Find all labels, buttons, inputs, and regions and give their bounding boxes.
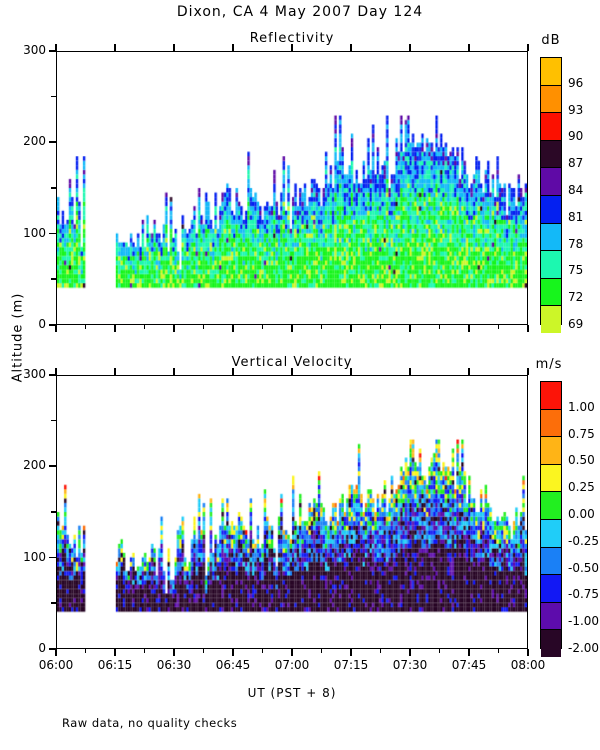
x-major-tick [173, 325, 175, 332]
x-major-tick [468, 325, 470, 332]
x-minor-tick [262, 649, 264, 653]
x-major-tick-top [232, 368, 234, 375]
x-minor-tick [144, 649, 146, 653]
x-major-tick [350, 325, 352, 332]
x-minor-tick [203, 649, 205, 653]
colorbar-band [541, 603, 561, 631]
y-tick-label: 200 [4, 134, 46, 148]
y-minor-tick [51, 602, 56, 604]
y-tick-label: 100 [4, 550, 46, 564]
colorbar-band [541, 168, 561, 196]
x-major-tick-top [114, 44, 116, 51]
velocity-colorbar-tick-label: 0.50 [568, 453, 600, 467]
x-major-tick [114, 649, 116, 656]
x-major-tick [173, 649, 175, 656]
x-major-tick-top [55, 368, 57, 375]
y-tick-label: 200 [4, 458, 46, 472]
x-tick-label: 06:45 [207, 658, 259, 672]
reflectivity-colorbar-tick-label: 69 [568, 317, 600, 331]
x-tick-label: 07:15 [325, 658, 377, 672]
y-axis-label: Altitude (m) [11, 288, 26, 388]
reflectivity-colorbar-tick-label: 75 [568, 263, 600, 277]
y-minor-tick [51, 278, 56, 280]
velocity-colorbar-tick-label: -0.25 [568, 534, 600, 548]
colorbar-band [541, 382, 561, 410]
x-major-tick [527, 649, 529, 656]
x-major-tick-top [173, 44, 175, 51]
reflectivity-colorbar-tick-label: 87 [568, 156, 600, 170]
x-tick-label: 06:00 [30, 658, 82, 672]
colorbar-band [541, 492, 561, 520]
colorbar-band [541, 86, 561, 114]
colorbar-band [541, 306, 561, 333]
colorbar-band [541, 251, 561, 279]
x-minor-tick [85, 649, 87, 653]
x-major-tick [409, 649, 411, 656]
y-tick-label: 100 [4, 226, 46, 240]
x-minor-tick [380, 649, 382, 653]
y-tick-label: 300 [4, 43, 46, 57]
y-minor-tick [51, 96, 56, 98]
x-minor-tick [85, 325, 87, 329]
reflectivity-colorbar-tick-label: 78 [568, 237, 600, 251]
velocity-colorbar-tick-label: 0.25 [568, 480, 600, 494]
x-major-tick-top [173, 368, 175, 375]
x-minor-tick [321, 325, 323, 329]
colorbar-band [541, 630, 561, 657]
x-major-tick [291, 649, 293, 656]
x-major-tick-top [291, 368, 293, 375]
footer-note: Raw data, no quality checks [62, 716, 237, 730]
colorbar-band [541, 58, 561, 86]
x-major-tick [527, 325, 529, 332]
x-minor-tick [439, 325, 441, 329]
y-minor-tick [51, 187, 56, 189]
velocity-heatmap-canvas [57, 376, 527, 648]
x-major-tick-top [468, 44, 470, 51]
x-major-tick [55, 325, 57, 332]
x-major-tick [291, 325, 293, 332]
colorbar-band [541, 141, 561, 169]
x-major-tick [232, 649, 234, 656]
reflectivity-colorbar-tick-label: 84 [568, 183, 600, 197]
velocity-colorbar-tick-label: -0.50 [568, 561, 600, 575]
colorbar-band [541, 224, 561, 252]
velocity-colorbar-tick-label: 0.00 [568, 507, 600, 521]
x-minor-tick [203, 325, 205, 329]
velocity-colorbar-unit: m/s [529, 357, 569, 372]
x-tick-label: 08:00 [502, 658, 554, 672]
colorbar-band [541, 279, 561, 307]
reflectivity-colorbar-tick-label: 81 [568, 210, 600, 224]
y-tick-label: 0 [4, 641, 46, 655]
x-minor-tick [262, 325, 264, 329]
y-major-tick [49, 557, 56, 559]
x-major-tick [468, 649, 470, 656]
colorbar-band [541, 113, 561, 141]
x-tick-label: 07:45 [443, 658, 495, 672]
velocity-colorbar-tick-label: 1.00 [568, 400, 600, 414]
velocity-colorbar-tick-label: -1.00 [568, 614, 600, 628]
x-major-tick [114, 325, 116, 332]
colorbar-band [541, 410, 561, 438]
x-major-tick-top [409, 44, 411, 51]
x-minor-tick [498, 649, 500, 653]
x-tick-label: 07:00 [266, 658, 318, 672]
colorbar-band [541, 520, 561, 548]
colorbar-band [541, 196, 561, 224]
colorbar-band [541, 465, 561, 493]
x-minor-tick [439, 649, 441, 653]
x-major-tick [350, 649, 352, 656]
x-major-tick-top [55, 44, 57, 51]
reflectivity-colorbar-tick-label: 90 [568, 129, 600, 143]
reflectivity-colorbar-tick-label: 96 [568, 76, 600, 90]
colorbar-band [541, 437, 561, 465]
reflectivity-colorbar-tick-label: 72 [568, 290, 600, 304]
reflectivity-heatmap-canvas [57, 52, 527, 324]
reflectivity-colorbar-tick-label: 93 [568, 103, 600, 117]
x-major-tick-top [350, 44, 352, 51]
reflectivity-plot[interactable] [56, 51, 528, 325]
velocity-colorbar-tick-label: 0.75 [568, 427, 600, 441]
velocity-colorbar[interactable] [540, 381, 562, 649]
y-minor-tick [51, 420, 56, 422]
x-major-tick-top [468, 368, 470, 375]
x-major-tick [55, 649, 57, 656]
x-minor-tick [144, 325, 146, 329]
x-minor-tick [380, 325, 382, 329]
colorbar-band [541, 548, 561, 576]
colorbar-band [541, 575, 561, 603]
y-major-tick [49, 233, 56, 235]
page-title: Dixon, CA 4 May 2007 Day 124 [0, 4, 600, 20]
x-major-tick [232, 325, 234, 332]
x-minor-tick [321, 649, 323, 653]
velocity-colorbar-tick-label: -2.00 [568, 641, 600, 655]
x-major-tick-top [114, 368, 116, 375]
y-major-tick [49, 465, 56, 467]
x-tick-label: 06:15 [89, 658, 141, 672]
velocity-colorbar-tick-label: -0.75 [568, 587, 600, 601]
x-tick-label: 06:30 [148, 658, 200, 672]
x-major-tick-top [232, 44, 234, 51]
x-major-tick [409, 325, 411, 332]
x-minor-tick [498, 325, 500, 329]
reflectivity-colorbar[interactable] [540, 57, 562, 325]
velocity-plot[interactable] [56, 375, 528, 649]
x-tick-label: 07:30 [384, 658, 436, 672]
x-major-tick-top [350, 368, 352, 375]
y-minor-tick [51, 511, 56, 513]
x-major-tick-top [291, 44, 293, 51]
x-axis-label: UT (PST + 8) [56, 686, 528, 700]
y-major-tick [49, 141, 56, 143]
x-major-tick-top [527, 44, 529, 51]
x-major-tick-top [409, 368, 411, 375]
reflectivity-colorbar-unit: dB [531, 33, 571, 48]
